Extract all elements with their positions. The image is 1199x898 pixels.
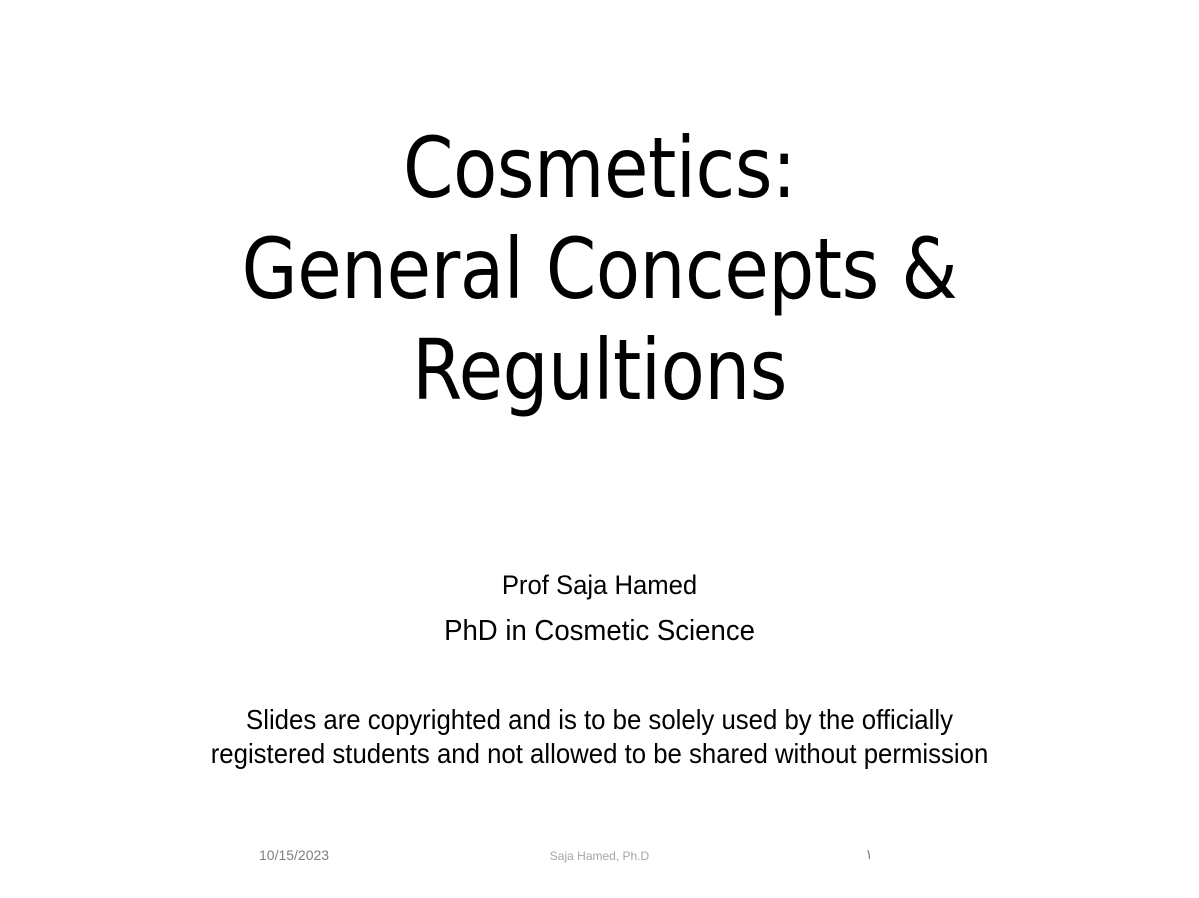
presenter-name: Prof Saja Hamed — [30, 562, 1169, 608]
title-line-3: Regultions — [84, 320, 1115, 421]
slide-subtitle: Prof Saja Hamed PhD in Cosmetic Science — [0, 562, 1199, 654]
presentation-slide: Cosmetics: General Concepts & Regultions… — [0, 0, 1199, 898]
slide-title: Cosmetics: General Concepts & Regultions — [0, 118, 1199, 420]
footer-slide-number: ١ — [845, 845, 893, 863]
copyright-line-2: registered students and not allowed to b… — [48, 737, 1151, 771]
title-line-2: General Concepts & — [84, 219, 1115, 320]
footer-author: Saja Hamed, Ph.D — [0, 848, 1199, 864]
presenter-degree: PhD in Cosmetic Science — [30, 608, 1169, 654]
copyright-notice: Slides are copyrighted and is to be sole… — [0, 703, 1199, 771]
title-line-1: Cosmetics: — [84, 118, 1115, 219]
copyright-line-1: Slides are copyrighted and is to be sole… — [48, 703, 1151, 737]
